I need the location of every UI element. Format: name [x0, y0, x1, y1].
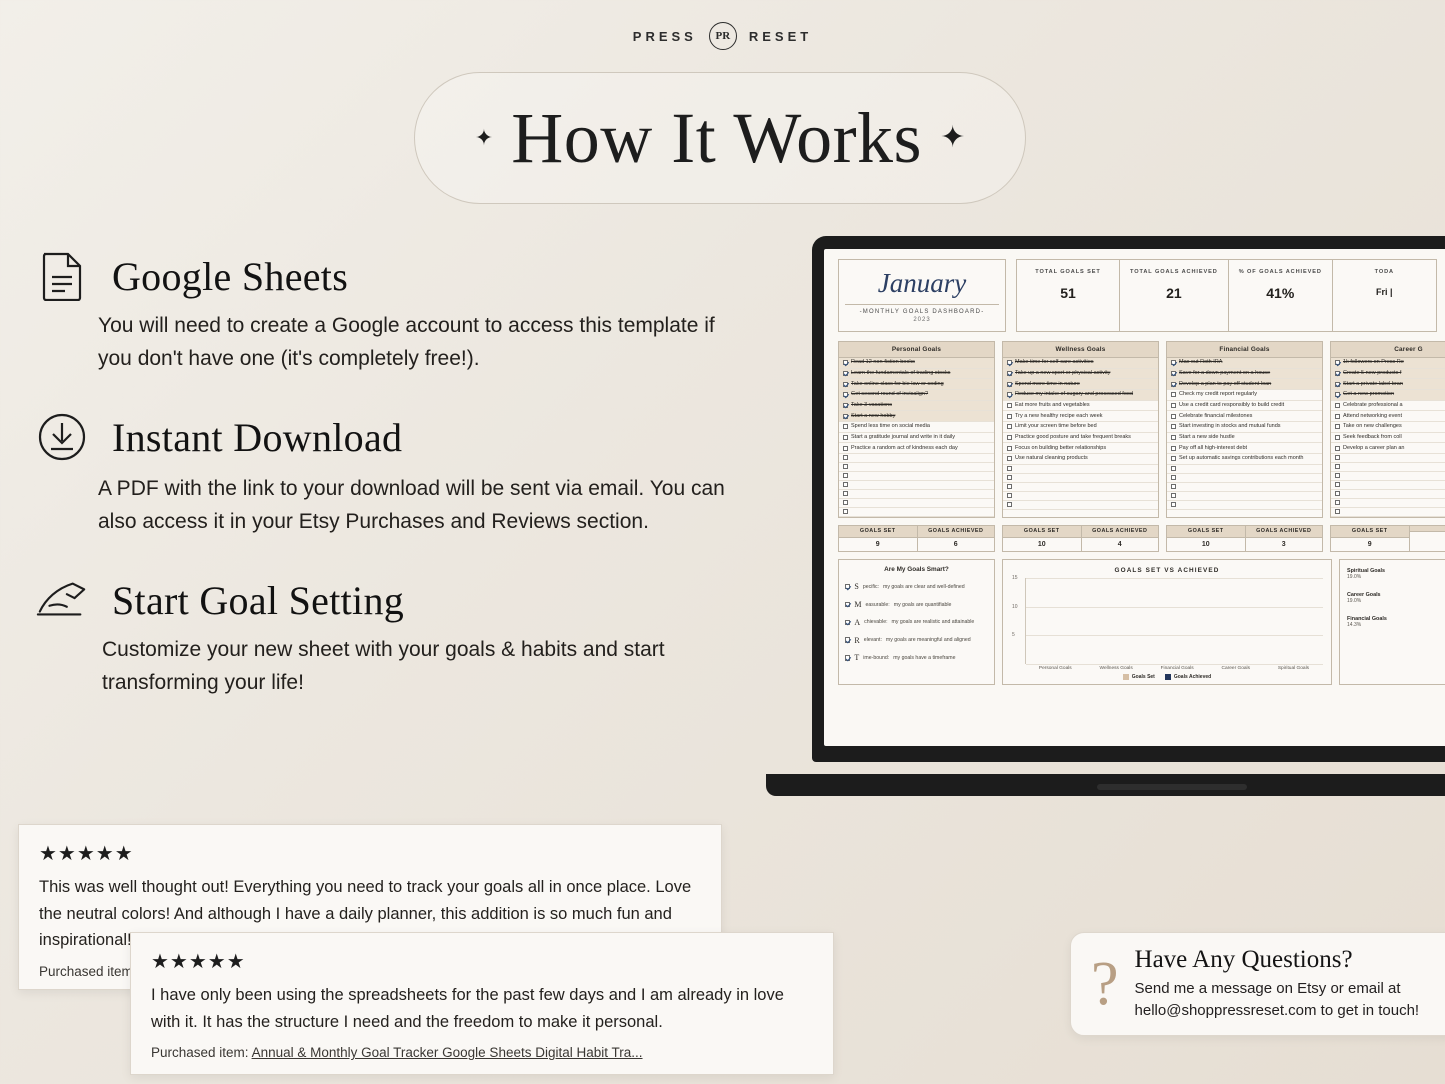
laptop-notch [1097, 784, 1247, 790]
goal-text: Start investing in stocks and mutual fun… [1179, 423, 1281, 430]
goal-item-empty[interactable] [839, 472, 994, 481]
smart-goal-row[interactable]: Relevant:my goals are meaningful and ali… [839, 631, 994, 649]
checkbox[interactable] [843, 382, 848, 387]
checkbox[interactable] [843, 435, 848, 440]
goal-item[interactable]: Start investing in stocks and mutual fun… [1167, 422, 1322, 433]
tally-row: GOALS SET9 GOALS ACHIEVED6 GOALS SET10 G… [838, 525, 1445, 552]
goals-set-value: 10 [1003, 538, 1081, 551]
checkbox[interactable] [1171, 435, 1176, 440]
goal-item[interactable]: Learn the fundamentals of trading stocks [839, 369, 994, 380]
checkbox[interactable] [1171, 446, 1176, 451]
checkbox[interactable] [1171, 475, 1176, 480]
checkbox[interactable] [1335, 403, 1340, 408]
breakdown-percent: 14.3% [1347, 622, 1445, 628]
goal-text: Develop a plan to pay off student loan [1179, 381, 1271, 388]
checkbox[interactable] [1335, 500, 1340, 505]
page-title: How It Works [511, 97, 922, 180]
step-instant-download: Instant Download A PDF with the link to … [34, 409, 734, 538]
goal-text: Check my credit report regularly [1179, 391, 1257, 398]
questions-card: ? Have Any Questions? Send me a message … [1070, 932, 1445, 1036]
brand-word-left: PRESS [633, 29, 697, 44]
checkbox[interactable] [843, 446, 848, 451]
goals-set-label: GOALS SET [1003, 526, 1081, 538]
goal-text: Get a new promotion [1343, 391, 1394, 398]
legend-goals-set: Goals Set [1123, 674, 1155, 680]
goal-item-empty[interactable] [1331, 499, 1445, 508]
goal-item-empty[interactable] [1331, 490, 1445, 499]
breakdown-item: Spiritual Goals 19.0% [1347, 568, 1445, 580]
goal-text: Focus on building better relationships [1015, 445, 1106, 452]
goal-text: Max out Roth IRA [1179, 359, 1222, 366]
checkbox[interactable] [1171, 382, 1176, 387]
brand-word-right: RESET [749, 29, 812, 44]
step-google-sheets: Google Sheets You will need to create a … [34, 248, 734, 375]
goal-text: 1k followers on Press Re [1343, 359, 1404, 366]
goal-text: Start a new side hustle [1179, 434, 1235, 441]
checkbox[interactable] [843, 424, 848, 429]
goal-text: Get second round of invisalign? [851, 391, 928, 398]
checkbox[interactable] [1335, 509, 1340, 514]
tally-wellness: GOALS SET10 GOALS ACHIEVED4 [1002, 525, 1159, 552]
brand-logo: PRESS PR RESET [0, 22, 1445, 50]
goal-breakdown-card: Spiritual Goals 19.0% Career Goals 19.0%… [1339, 559, 1445, 685]
chart-y-tick: 15 [1012, 575, 1018, 581]
questions-text: Send me a message on Etsy or email at he… [1135, 978, 1445, 1022]
goal-item-empty[interactable] [839, 508, 994, 517]
tally-financial: GOALS SET10 GOALS ACHIEVED3 [1166, 525, 1323, 552]
checkbox[interactable] [1007, 403, 1012, 408]
goal-column-title: Financial Goals [1167, 342, 1322, 358]
goal-item[interactable]: Reduce my intake of sugary and processed… [1003, 390, 1158, 401]
step-title: Instant Download [112, 414, 402, 461]
smart-goals-title: Are My Goals Smart? [839, 560, 994, 578]
checkbox[interactable] [1007, 414, 1012, 419]
chart-x-labels: Personal GoalsWellness GoalsFinancial Go… [1025, 666, 1323, 671]
breakdown-percent: 19.0% [1347, 598, 1445, 604]
smart-word: pecific: [863, 584, 879, 590]
goal-text: Practice a random act of kindness each d… [851, 445, 958, 452]
goal-text: Start a private label bran [1343, 381, 1403, 388]
smart-goal-row[interactable]: Time-bound:my goals have a timeframe [839, 649, 994, 667]
goal-text: Make time for self-care activities [1015, 359, 1094, 366]
laptop-screen: January -MONTHLY GOALS DASHBOARD- 2023 T… [824, 249, 1445, 746]
checkbox[interactable] [1007, 475, 1012, 480]
kpi-label: % OF GOALS ACHIEVED [1239, 269, 1322, 275]
checkbox[interactable] [1007, 382, 1012, 387]
star-rating-icon: ★★★★★ [151, 949, 813, 974]
goal-text: Take 3 vacations [851, 402, 892, 409]
kpi-today: TODA Fri | [1333, 259, 1437, 332]
step-title: Google Sheets [112, 253, 348, 300]
goal-item[interactable]: Take on new challenges [1331, 422, 1445, 433]
goal-item[interactable]: Take 3 vacations [839, 401, 994, 412]
goal-column-financial: Financial Goals Max out Roth IRA Save fo… [1166, 341, 1323, 518]
smart-word: easurable: [866, 602, 890, 608]
goal-item[interactable]: Spend more time in nature [1003, 379, 1158, 390]
goal-item-empty[interactable] [839, 463, 994, 472]
sparkle-right-icon: ✦ [940, 123, 965, 153]
laptop-base [766, 774, 1445, 796]
smart-goals-list: Specific:my goals are clear and well-def… [839, 578, 994, 667]
goal-item[interactable]: Get second round of invisalign? [839, 390, 994, 401]
review-text: I have only been using the spreadsheets … [151, 982, 813, 1035]
goal-item[interactable]: Eat more fruits and vegetables [1003, 401, 1158, 412]
kpi-group: TOTAL GOALS SET 51 TOTAL GOALS ACHIEVED … [1016, 259, 1437, 332]
chart-gridline [1026, 664, 1323, 665]
goals-set-value: 9 [839, 538, 917, 551]
purchased-label: Purchased item: [151, 1045, 249, 1060]
goal-item-empty[interactable] [1167, 492, 1322, 501]
checkbox[interactable] [1335, 392, 1340, 397]
month-card: January -MONTHLY GOALS DASHBOARD- 2023 [838, 259, 1006, 332]
goal-text: Attend networking event [1343, 413, 1402, 420]
questions-title: Have Any Questions? [1135, 946, 1445, 974]
goal-text: Read 12 non-fiction books [851, 359, 915, 366]
goal-item[interactable]: Celebrate financial milestones [1167, 411, 1322, 422]
goal-item[interactable]: Get a new promotion [1331, 390, 1445, 401]
goal-columns: Personal Goals Read 12 non-fiction books… [838, 341, 1445, 518]
goal-column-title: Career G [1331, 342, 1445, 358]
goal-text: Celebrate professional a [1343, 402, 1403, 409]
goal-text: Start a gratitude journal and write in i… [851, 434, 955, 441]
chart-y-tick: 10 [1012, 604, 1018, 610]
checkbox[interactable] [843, 371, 848, 376]
goal-item-empty[interactable] [1167, 483, 1322, 492]
goals-achieved-value [1410, 532, 1445, 538]
goal-column-title: Personal Goals [839, 342, 994, 358]
hero-title-pill: ✦ How It Works ✦ [414, 72, 1026, 204]
checkbox[interactable] [843, 482, 848, 487]
goal-text: Use natural cleaning products [1015, 455, 1088, 462]
goal-text: Spend less time on social media [851, 423, 930, 430]
goal-item-empty[interactable] [839, 481, 994, 490]
checkbox[interactable] [1171, 456, 1176, 461]
checkbox[interactable] [1335, 371, 1340, 376]
goal-column-personal: Personal Goals Read 12 non-fiction books… [838, 341, 995, 518]
purchased-label: Purchased item: [39, 964, 137, 979]
goal-item[interactable]: Start a private label bran [1331, 379, 1445, 390]
goals-achieved-label: GOALS ACHIEVED [1082, 526, 1159, 538]
goal-item-empty[interactable] [1331, 463, 1445, 472]
goals-set-label: GOALS SET [1331, 526, 1409, 538]
goal-text: Pay off all high-interest debt [1179, 445, 1247, 452]
checkbox[interactable] [1171, 493, 1176, 498]
goals-achieved-label: GOALS ACHIEVED [1246, 526, 1323, 538]
goal-item-empty[interactable] [1331, 481, 1445, 490]
legend-goals-achieved: Goals Achieved [1165, 674, 1211, 680]
goal-item-empty[interactable] [1003, 501, 1158, 510]
goal-text: Set up automatic savings contributions e… [1179, 455, 1303, 462]
goal-text: Start a new hobby [851, 413, 895, 420]
goal-item-empty[interactable] [1167, 474, 1322, 483]
goal-column-title: Wellness Goals [1003, 342, 1158, 358]
goal-item[interactable]: Practice a random act of kindness each d… [839, 443, 994, 454]
smart-letter: R [854, 636, 859, 645]
goal-text: Use a credit card responsibly to build c… [1179, 402, 1284, 409]
writing-hand-icon [34, 572, 90, 628]
goal-text: Spend more time in nature [1015, 381, 1080, 388]
smart-text: my goals are clear and well-defined [883, 584, 965, 590]
smart-goals-card: Are My Goals Smart? Specific:my goals ar… [838, 559, 995, 685]
goals-set-value: 9 [1331, 538, 1409, 551]
goal-list: Read 12 non-fiction books Learn the fund… [839, 358, 994, 517]
checkbox[interactable] [1007, 446, 1012, 451]
checkbox[interactable] [843, 509, 848, 514]
goal-list: 1k followers on Press Re Create 5 new pr… [1331, 358, 1445, 517]
dashboard-subtitle: -MONTHLY GOALS DASHBOARD- [845, 304, 999, 315]
checkbox[interactable] [1335, 360, 1340, 365]
tally-personal: GOALS SET9 GOALS ACHIEVED6 [838, 525, 995, 552]
goal-item-empty[interactable] [1003, 465, 1158, 474]
checkbox[interactable] [1335, 491, 1340, 496]
goal-list: Max out Roth IRA Save for a down payment… [1167, 358, 1322, 510]
kpi-value: 41% [1239, 285, 1322, 301]
checkbox[interactable] [1007, 502, 1012, 507]
breakdown-percent: 19.0% [1347, 574, 1445, 580]
smart-text: my goals are realistic and attainable [892, 619, 975, 625]
goal-item-empty[interactable] [839, 454, 994, 463]
chart-bars [1026, 578, 1323, 664]
goal-item[interactable]: Start a new side hustle [1167, 433, 1322, 444]
smart-word: elevant: [864, 637, 882, 643]
checkbox[interactable] [843, 455, 848, 460]
goal-item-empty[interactable] [839, 499, 994, 508]
goal-text: Develop a career plan an [1343, 445, 1404, 452]
goal-text: Create 5 new products f [1343, 370, 1401, 377]
question-mark-icon: ? [1091, 953, 1119, 1015]
goal-item[interactable]: Focus on building better relationships [1003, 443, 1158, 454]
goal-text: Take on new challenges [1343, 423, 1402, 430]
step-title: Start Goal Setting [112, 577, 404, 624]
checkbox[interactable] [843, 464, 848, 469]
kpi-value: 21 [1130, 285, 1218, 301]
goal-item-empty[interactable] [1167, 465, 1322, 474]
breakdown-item: Financial Goals 14.3% [1347, 616, 1445, 628]
goal-item[interactable]: Try a new healthy recipe each week [1003, 411, 1158, 422]
goal-item[interactable]: Max out Roth IRA [1167, 358, 1322, 369]
checkbox[interactable] [843, 403, 848, 408]
chart-x-tick: Spiritual Goals [1278, 666, 1309, 671]
checkbox[interactable] [1335, 435, 1340, 440]
goal-item-empty[interactable] [1331, 472, 1445, 481]
step-body: You will need to create a Google account… [98, 310, 734, 375]
smart-goal-row[interactable]: Measurable:my goals are quantifiable [839, 596, 994, 614]
laptop-mockup: January -MONTHLY GOALS DASHBOARD- 2023 T… [812, 236, 1445, 796]
checkbox[interactable] [1171, 502, 1176, 507]
checkbox[interactable] [1335, 424, 1340, 429]
checkbox[interactable] [1007, 435, 1012, 440]
goal-item[interactable]: Attend networking event [1331, 411, 1445, 422]
goal-item[interactable]: Seek feedback from coll [1331, 433, 1445, 444]
dashboard-bottom-row: Are My Goals Smart? Specific:my goals ar… [838, 559, 1445, 685]
checkbox[interactable] [1007, 392, 1012, 397]
goal-item-empty[interactable] [1003, 492, 1158, 501]
goal-item[interactable]: Use natural cleaning products [1003, 454, 1158, 465]
goal-item[interactable]: Develop a career plan an [1331, 443, 1445, 454]
chart-legend: Goals Set Goals Achieved [1009, 674, 1325, 680]
goal-text: Limit your screen time before bed [1015, 423, 1097, 430]
spreadsheet-dashboard: January -MONTHLY GOALS DASHBOARD- 2023 T… [824, 249, 1445, 746]
smart-letter: T [854, 653, 859, 662]
smart-word: ime-bound: [863, 655, 889, 661]
goal-item[interactable]: Pay off all high-interest debt [1167, 443, 1322, 454]
checkbox[interactable] [1007, 371, 1012, 376]
checkbox[interactable] [1171, 360, 1176, 365]
goal-item[interactable]: 1k followers on Press Re [1331, 358, 1445, 369]
checkbox[interactable] [1171, 392, 1176, 397]
checkbox[interactable] [845, 655, 850, 660]
review-card-2: ★★★★★ I have only been using the spreads… [130, 932, 834, 1075]
chart-plot-area: 15105 [1025, 578, 1323, 664]
smart-text: my goals have a timeframe [893, 655, 955, 661]
goal-column-wellness: Wellness Goals Make time for self-care a… [1002, 341, 1159, 518]
goal-item[interactable]: Make time for self-care activities [1003, 358, 1158, 369]
goal-text: Practice good posture and take frequent … [1015, 434, 1131, 441]
goal-item-empty[interactable] [839, 490, 994, 499]
smart-goal-row[interactable]: Specific:my goals are clear and well-def… [839, 578, 994, 596]
goal-item-empty[interactable] [1167, 501, 1322, 510]
checkbox[interactable] [1335, 382, 1340, 387]
goal-item[interactable]: Limit your screen time before bed [1003, 422, 1158, 433]
checkbox[interactable] [1171, 414, 1176, 419]
chart-x-tick: Personal Goals [1039, 666, 1072, 671]
goals-set-label: GOALS SET [839, 526, 917, 538]
smart-letter: S [854, 582, 858, 591]
goal-item[interactable]: Start a new hobby [839, 411, 994, 422]
kpi-label: TOTAL GOALS ACHIEVED [1130, 269, 1218, 275]
checkbox[interactable] [1171, 371, 1176, 376]
goals-achieved-value: 4 [1082, 538, 1159, 551]
checkbox[interactable] [1335, 473, 1340, 478]
document-icon [34, 248, 90, 304]
purchased-item-link[interactable]: Annual & Monthly Goal Tracker Google She… [252, 1045, 643, 1060]
step-body: A PDF with the link to your download wil… [98, 473, 734, 538]
goal-text: Reduce my intake of sugary and processed… [1015, 391, 1133, 398]
chart-x-tick: Career Goals [1222, 666, 1251, 671]
smart-letter: A [854, 618, 860, 627]
goal-item[interactable]: Spend less time on social media [839, 422, 994, 433]
checkbox[interactable] [843, 414, 848, 419]
goal-item-empty[interactable] [1331, 508, 1445, 517]
breakdown-item: Career Goals 19.0% [1347, 592, 1445, 604]
checkbox[interactable] [1007, 466, 1012, 471]
goals-set-value: 10 [1167, 538, 1245, 551]
goal-item[interactable]: Check my credit report regularly [1167, 390, 1322, 401]
goal-column-career: Career G 1k followers on Press Re Create… [1330, 341, 1445, 518]
goal-text: Take up a new sport or physical activity [1015, 370, 1110, 377]
checkbox[interactable] [1171, 466, 1176, 471]
checkbox[interactable] [843, 500, 848, 505]
star-rating-icon: ★★★★★ [39, 841, 701, 866]
step-start-goal-setting: Start Goal Setting Customize your new sh… [34, 572, 734, 699]
checkbox[interactable] [1335, 482, 1340, 487]
kpi-percent-goals-achieved: % OF GOALS ACHIEVED 41% [1229, 259, 1333, 332]
checkbox[interactable] [1335, 414, 1340, 419]
checkbox[interactable] [1171, 424, 1176, 429]
step-body: Customize your new sheet with your goals… [102, 634, 734, 699]
goal-text: Save for a down payment on a house [1179, 370, 1270, 377]
checkbox[interactable] [845, 602, 850, 607]
smart-text: my goals are quantifiable [894, 602, 952, 608]
dashboard-header-row: January -MONTHLY GOALS DASHBOARD- 2023 T… [838, 259, 1445, 332]
goal-text: Seek feedback from coll [1343, 434, 1402, 441]
tally-career: GOALS SET9 [1330, 525, 1445, 552]
goal-item[interactable]: Save for a down payment on a house [1167, 369, 1322, 380]
sparkle-left-icon: ✦ [475, 127, 493, 149]
purchased-item-line: Purchased item: Annual & Monthly Goal Tr… [151, 1045, 813, 1060]
checkbox[interactable] [843, 473, 848, 478]
checkbox[interactable] [1335, 446, 1340, 451]
checkbox[interactable] [843, 491, 848, 496]
goal-item[interactable]: Set up automatic savings contributions e… [1167, 454, 1322, 465]
laptop-body: January -MONTHLY GOALS DASHBOARD- 2023 T… [812, 236, 1445, 762]
goal-item[interactable]: Use a credit card responsibly to build c… [1167, 401, 1322, 412]
goal-item[interactable]: Start a gratitude journal and write in i… [839, 433, 994, 444]
goal-item-empty[interactable] [1003, 483, 1158, 492]
kpi-value: Fri | [1343, 287, 1426, 297]
checkbox[interactable] [1007, 360, 1012, 365]
chart-x-tick: Financial Goals [1161, 666, 1194, 671]
goal-item-empty[interactable] [1331, 454, 1445, 463]
checkbox[interactable] [1335, 455, 1340, 460]
checkbox[interactable] [843, 392, 848, 397]
goal-text: Take online class for bie law or coding [851, 381, 944, 388]
checkbox[interactable] [1007, 493, 1012, 498]
smart-word: chievable: [864, 619, 887, 625]
goal-text: Celebrate financial milestones [1179, 413, 1252, 420]
chart-y-tick: 5 [1012, 632, 1015, 638]
dashboard-year: 2023 [845, 317, 999, 323]
goal-item[interactable]: Take up a new sport or physical activity [1003, 369, 1158, 380]
goal-text: Learn the fundamentals of trading stocks [851, 370, 950, 377]
goal-list: Make time for self-care activities Take … [1003, 358, 1158, 510]
checkbox[interactable] [845, 637, 850, 642]
goals-achieved-value: 3 [1246, 538, 1323, 551]
checkbox[interactable] [843, 360, 848, 365]
goals-achieved-value: 6 [918, 538, 995, 551]
goals-achieved-label: GOALS ACHIEVED [918, 526, 995, 538]
checkbox[interactable] [1007, 424, 1012, 429]
goal-item[interactable]: Create 5 new products f [1331, 369, 1445, 380]
checkbox[interactable] [1335, 464, 1340, 469]
goal-text: Try a new healthy recipe each week [1015, 413, 1103, 420]
checkbox[interactable] [1007, 484, 1012, 489]
checkbox[interactable] [845, 620, 850, 625]
chart-title: GOALS SET VS ACHIEVED [1009, 567, 1325, 574]
checkbox[interactable] [1171, 403, 1176, 408]
goal-item[interactable]: Celebrate professional a [1331, 401, 1445, 412]
chart-x-tick: Wellness Goals [1100, 666, 1133, 671]
goal-item[interactable]: Develop a plan to pay off student loan [1167, 379, 1322, 390]
download-icon [34, 409, 90, 465]
kpi-label: TOTAL GOALS SET [1027, 269, 1109, 275]
page-root: PRESS PR RESET ✦ How It Works ✦ Google S… [0, 0, 1445, 1084]
kpi-total-goals-set: TOTAL GOALS SET 51 [1016, 259, 1120, 332]
kpi-value: 51 [1027, 285, 1109, 301]
goal-item-empty[interactable] [1003, 474, 1158, 483]
checkbox[interactable] [845, 584, 850, 589]
goal-item[interactable]: Practice good posture and take frequent … [1003, 433, 1158, 444]
goal-item[interactable]: Read 12 non-fiction books [839, 358, 994, 369]
checkbox[interactable] [1171, 484, 1176, 489]
steps-list: Google Sheets You will need to create a … [34, 248, 734, 733]
goal-item[interactable]: Take online class for bie law or coding [839, 379, 994, 390]
goal-text: Eat more fruits and vegetables [1015, 402, 1090, 409]
goals-set-label: GOALS SET [1167, 526, 1245, 538]
checkbox[interactable] [1007, 456, 1012, 461]
month-name: January [845, 270, 999, 297]
smart-goal-row[interactable]: Achievable:my goals are realistic and at… [839, 613, 994, 631]
